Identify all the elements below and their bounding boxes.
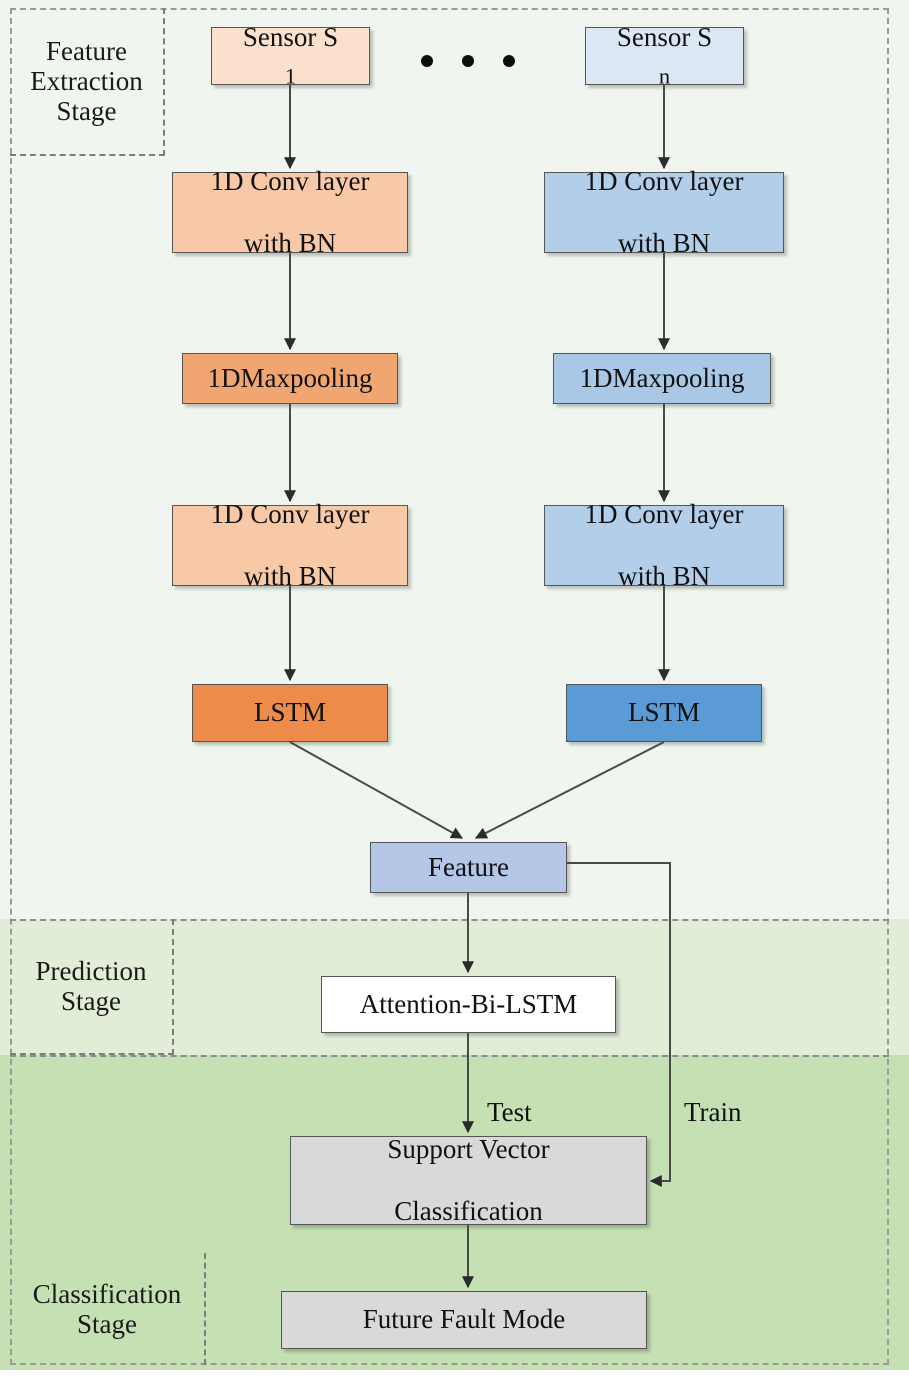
- stage-label-feature-extraction-text: FeatureExtractionStage: [30, 36, 142, 127]
- node-support-vector-classification[interactable]: Support VectorClassification: [290, 1136, 647, 1225]
- node-conv1-left[interactable]: 1D Conv layerwith BN: [172, 172, 408, 253]
- stage-label-classification: ClassificationStage: [10, 1253, 206, 1365]
- edge-label-test: Test: [487, 1097, 532, 1128]
- node-lstm-left-label: LSTM: [250, 697, 330, 728]
- node-conv1-right-label: 1D Conv layerwith BN: [577, 166, 752, 259]
- node-sensor-n-label: Sensor Sn: [609, 22, 720, 89]
- node-conv2-right[interactable]: 1D Conv layerwith BN: [544, 505, 784, 586]
- stage-label-feature-extraction: FeatureExtractionStage: [10, 8, 165, 156]
- stage-label-classification-text: ClassificationStage: [33, 1279, 181, 1339]
- node-lstm-left[interactable]: LSTM: [192, 684, 388, 742]
- node-conv2-right-label: 1D Conv layerwith BN: [577, 499, 752, 592]
- node-conv1-right[interactable]: 1D Conv layerwith BN: [544, 172, 784, 253]
- sensor-n-subscript: n: [659, 64, 670, 89]
- node-feature[interactable]: Feature: [370, 842, 567, 893]
- diagram-canvas: FeatureExtractionStage PredictionStage C…: [0, 0, 909, 1391]
- node-maxpooling-left[interactable]: 1DMaxpooling: [182, 353, 398, 404]
- node-sensor-1[interactable]: Sensor S1: [211, 27, 370, 85]
- node-sensor-1-label: Sensor S1: [235, 22, 346, 89]
- edge-label-train: Train: [684, 1097, 742, 1128]
- stage-divider-prediction-classification: [10, 1055, 889, 1057]
- sensor-1-subscript: 1: [285, 64, 296, 89]
- node-sensor-n[interactable]: Sensor Sn: [585, 27, 744, 85]
- node-conv1-left-label: 1D Conv layerwith BN: [203, 166, 378, 259]
- node-future-fault-mode[interactable]: Future Fault Mode: [281, 1291, 647, 1349]
- ellipsis-dot-icon: [503, 55, 515, 67]
- node-lstm-right-label: LSTM: [624, 697, 704, 728]
- node-attention-bi-lstm-label: Attention-Bi-LSTM: [356, 989, 582, 1020]
- node-maxpooling-right-label: 1DMaxpooling: [576, 363, 749, 394]
- node-attention-bi-lstm[interactable]: Attention-Bi-LSTM: [321, 976, 616, 1033]
- stage-label-prediction: PredictionStage: [10, 919, 174, 1055]
- node-maxpooling-right[interactable]: 1DMaxpooling: [553, 353, 771, 404]
- node-feature-label: Feature: [424, 852, 513, 883]
- ellipsis-dot-icon: [462, 55, 474, 67]
- node-maxpooling-left-label: 1DMaxpooling: [204, 363, 377, 394]
- node-support-vector-classification-label: Support VectorClassification: [379, 1134, 557, 1227]
- node-conv2-left-label: 1D Conv layerwith BN: [203, 499, 378, 592]
- ellipsis-dot-icon: [421, 55, 433, 67]
- node-future-fault-mode-label: Future Fault Mode: [359, 1304, 570, 1335]
- node-conv2-left[interactable]: 1D Conv layerwith BN: [172, 505, 408, 586]
- node-lstm-right[interactable]: LSTM: [566, 684, 762, 742]
- stage-label-prediction-text: PredictionStage: [36, 956, 147, 1016]
